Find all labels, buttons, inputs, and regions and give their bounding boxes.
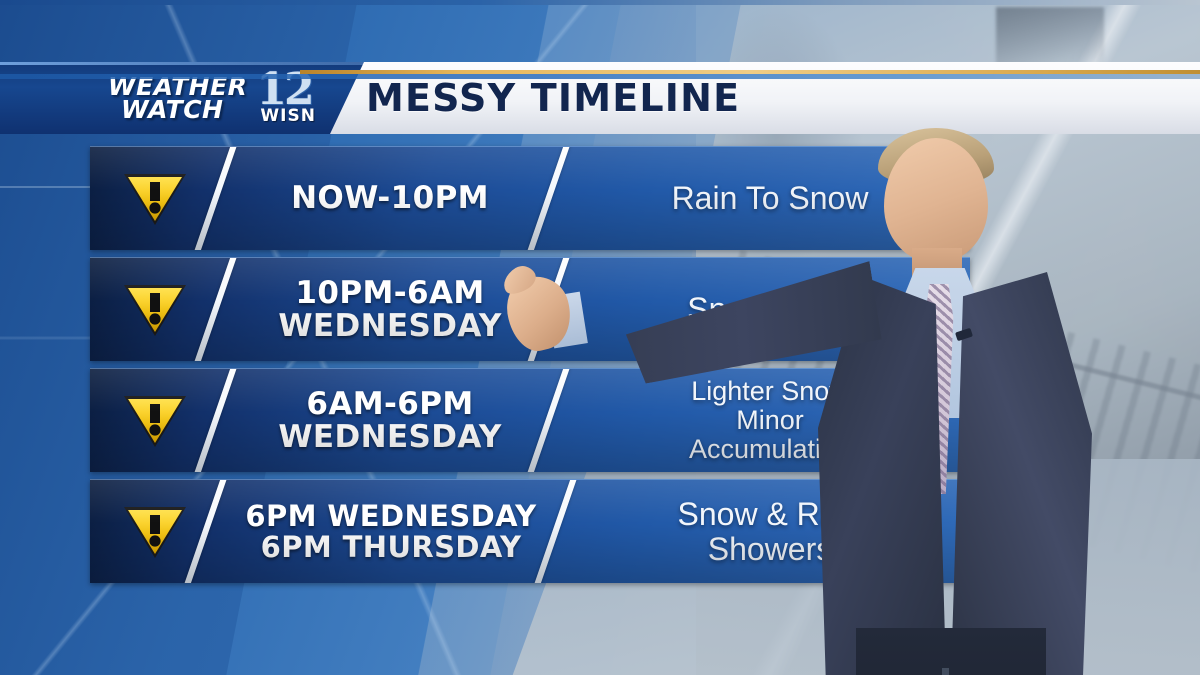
warning-cell — [112, 369, 198, 472]
broadcast-screenshot: WEATHER WATCH 12 WISN MESSY TIMELINE — [0, 0, 1200, 675]
warning-triangle-icon — [121, 504, 189, 560]
warning-cell — [112, 258, 198, 361]
time-line: NOW-10PM — [291, 182, 489, 215]
time-line: WEDNESDAY — [278, 310, 501, 343]
timeline-time: NOW-10PM — [240, 147, 540, 250]
presenter-head — [884, 138, 988, 262]
time-line: WEDNESDAY — [278, 421, 501, 454]
warning-cell — [112, 480, 198, 583]
warning-triangle-icon — [121, 282, 189, 338]
desc-line: Minor — [736, 406, 804, 435]
timeline-time: 10PM-6AM WEDNESDAY — [240, 258, 540, 361]
presenter-leg-gap — [942, 668, 949, 675]
time-line: 6PM THURSDAY — [261, 532, 522, 563]
desc-line: Lighter Snow — [691, 377, 849, 406]
logo-wordmark: WEATHER WATCH — [108, 75, 247, 122]
timeline-time: 6PM WEDNESDAY 6PM THURSDAY — [228, 480, 554, 583]
time-line: 6AM-6PM — [306, 388, 473, 421]
presenter-pants — [856, 628, 1046, 675]
row-separator-slash-1 — [192, 257, 237, 361]
warning-cell — [112, 147, 198, 250]
row-separator-slash-1 — [192, 146, 237, 250]
title-bar-underline — [0, 74, 1200, 79]
desc-line: Showers — [708, 532, 833, 567]
warning-triangle-icon — [121, 393, 189, 449]
warning-triangle-icon — [121, 171, 189, 227]
station-callsign: WISN — [260, 106, 316, 126]
row-separator-slash-1 — [192, 368, 237, 472]
time-line: 10PM-6AM — [295, 277, 484, 310]
meteorologist-on-camera — [838, 108, 1168, 675]
timeline-time: 6AM-6PM WEDNESDAY — [240, 369, 540, 472]
logo-line-watch: WATCH — [121, 98, 247, 121]
background-top-strip — [0, 0, 1200, 5]
time-line: 6PM WEDNESDAY — [245, 501, 536, 532]
